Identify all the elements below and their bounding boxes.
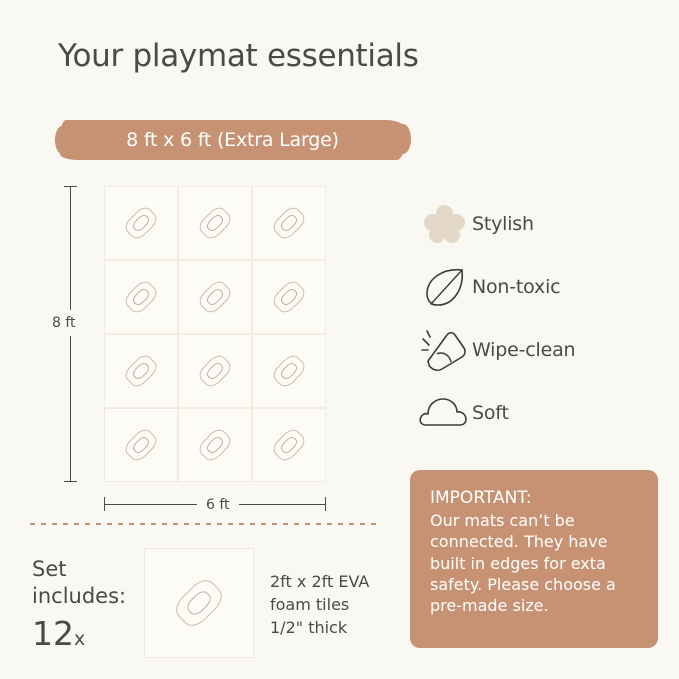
set-description-line3: 1/2" thick bbox=[270, 616, 369, 639]
playmat-infographic: Your playmat essentials 8 ft x 6 ft (Ext… bbox=[0, 0, 679, 679]
feature-list: Stylish Non-toxic bbox=[418, 192, 658, 444]
size-banner: 8 ft x 6 ft (Extra Large) bbox=[60, 120, 405, 160]
height-dimension-label: 8 ft bbox=[48, 310, 80, 336]
set-includes-count: 12x bbox=[32, 614, 85, 653]
feature-label: Soft bbox=[472, 402, 509, 424]
size-banner-label: 8 ft x 6 ft (Extra Large) bbox=[60, 120, 405, 160]
tile-motif bbox=[122, 204, 160, 242]
playmat-tile bbox=[252, 408, 326, 482]
tile-motif bbox=[196, 278, 234, 316]
playmat-illustration bbox=[104, 186, 326, 482]
width-dimension-cap-left bbox=[104, 497, 105, 511]
feature-item-wipe-clean: Wipe-clean bbox=[418, 318, 658, 381]
important-note-title: IMPORTANT: bbox=[430, 488, 638, 508]
tile-motif bbox=[196, 352, 234, 390]
width-dimension-label: 6 ft bbox=[197, 494, 239, 516]
wipe-cloth-icon-svg bbox=[418, 327, 472, 373]
flower-icon bbox=[418, 201, 472, 247]
set-includes-label-line2: includes: bbox=[32, 583, 126, 610]
set-description-line1: 2ft x 2ft EVA bbox=[270, 570, 369, 593]
playmat-tile bbox=[104, 334, 178, 408]
tile-motif bbox=[122, 352, 160, 390]
playmat-tile bbox=[104, 260, 178, 334]
tile-motif bbox=[171, 575, 228, 632]
important-note-box: IMPORTANT: Our mats can’t be connected. … bbox=[410, 470, 658, 648]
section-divider bbox=[30, 523, 380, 525]
width-dimension-cap-right bbox=[325, 497, 326, 511]
page-title: Your playmat essentials bbox=[58, 38, 419, 74]
playmat-tile bbox=[178, 408, 252, 482]
tile-motif bbox=[270, 352, 308, 390]
feature-label: Stylish bbox=[472, 213, 534, 235]
leaf-icon bbox=[418, 264, 472, 310]
feature-item-soft: Soft bbox=[418, 381, 658, 444]
feature-label: Wipe-clean bbox=[472, 339, 575, 361]
feature-item-non-toxic: Non-toxic bbox=[418, 255, 658, 318]
playmat-tile bbox=[104, 186, 178, 260]
playmat-tile bbox=[252, 186, 326, 260]
playmat-corner-cutout bbox=[104, 408, 178, 482]
tile-motif bbox=[270, 278, 308, 316]
feature-label: Non-toxic bbox=[472, 276, 560, 298]
set-includes-count-number: 12 bbox=[32, 614, 74, 653]
tile-motif bbox=[122, 278, 160, 316]
playmat-tile bbox=[252, 334, 326, 408]
tile-motif bbox=[270, 204, 308, 242]
set-includes-count-suffix: x bbox=[74, 628, 85, 650]
set-includes-label-line1: Set bbox=[32, 556, 126, 583]
height-dimension-cap-bottom bbox=[64, 481, 77, 482]
cloud-icon bbox=[418, 390, 472, 436]
tile-motif bbox=[122, 426, 160, 464]
tile-motif bbox=[196, 426, 234, 464]
playmat-corner-tile bbox=[104, 408, 178, 482]
sample-tile-illustration bbox=[144, 548, 254, 658]
important-note-body: Our mats can’t be connected. They have b… bbox=[430, 510, 638, 616]
playmat-tile bbox=[178, 334, 252, 408]
tile-motif bbox=[270, 426, 308, 464]
playmat-tile bbox=[178, 186, 252, 260]
set-includes-description: 2ft x 2ft EVA foam tiles 1/2" thick bbox=[270, 570, 369, 640]
set-description-line2: foam tiles bbox=[270, 593, 369, 616]
set-includes-label: Set includes: bbox=[32, 556, 126, 610]
playmat-tile bbox=[252, 260, 326, 334]
wipe-cloth-icon bbox=[418, 327, 472, 373]
height-dimension-cap-top bbox=[64, 186, 77, 187]
cloud-icon-svg bbox=[418, 390, 472, 436]
tile-motif bbox=[196, 204, 234, 242]
playmat-tile bbox=[178, 260, 252, 334]
leaf-icon-svg bbox=[418, 264, 472, 310]
feature-item-stylish: Stylish bbox=[418, 192, 658, 255]
